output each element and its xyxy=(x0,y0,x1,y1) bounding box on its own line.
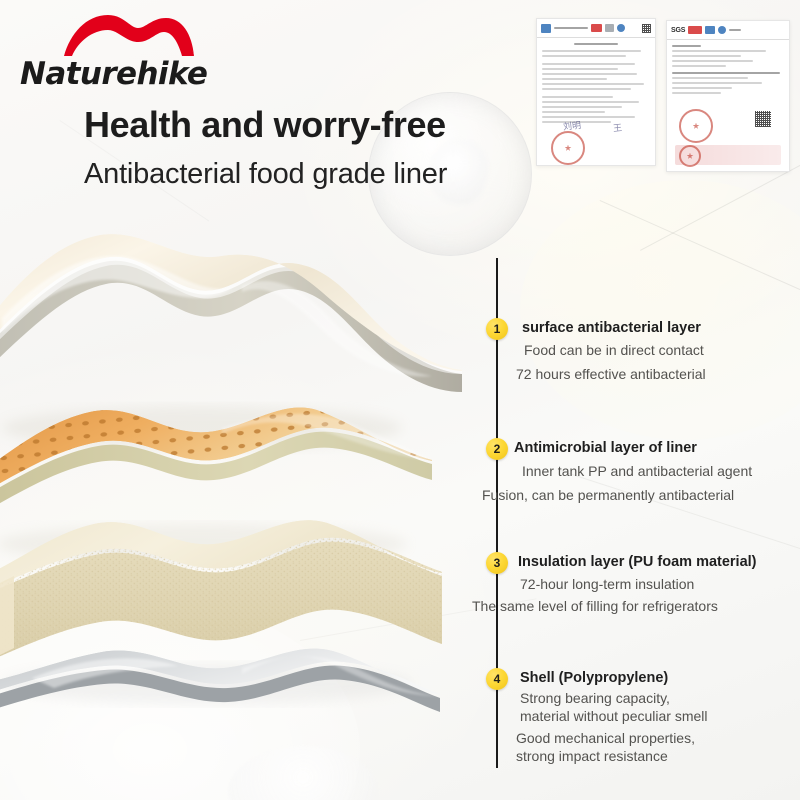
background-veil xyxy=(520,180,800,440)
certificate-header-text xyxy=(729,29,741,31)
certificate-body xyxy=(537,38,655,129)
background-marble-line xyxy=(560,470,800,557)
callout-title-4: Shell (Polypropylene) xyxy=(520,670,668,686)
ce-mark-icon xyxy=(605,24,614,32)
mountain-wave-icon xyxy=(60,12,200,60)
layer-polypropylene-shell xyxy=(0,649,440,716)
rohs-mark-icon xyxy=(705,26,715,34)
callout-desc-1-0: Food can be in direct contact xyxy=(524,342,704,358)
certificate-image-1: 刘明 王 xyxy=(536,18,656,166)
page-title: Health and worry-free xyxy=(84,104,446,146)
callout-desc-2-0: Inner tank PP and antibacterial agent xyxy=(522,463,752,479)
callout-title-1: surface antibacterial layer xyxy=(522,320,701,336)
brand-name: Naturehike xyxy=(20,56,207,92)
callout-desc-3-0: 72-hour long-term insulation xyxy=(520,576,694,592)
sgs-round-mark-icon xyxy=(718,26,726,34)
callout-desc-4-3: strong impact resistance xyxy=(516,748,668,764)
callout-title-3: Insulation layer (PU foam material) xyxy=(518,554,757,570)
qr-code-icon xyxy=(755,111,771,127)
brand-logo: Naturehike xyxy=(16,12,202,98)
callout-number-badge-1: 1 xyxy=(486,318,508,340)
callout-desc-4-0: Strong bearing capacity, xyxy=(520,690,670,706)
background-marble-line xyxy=(600,200,800,323)
product-infographic: Naturehike Health and worry-free Antibac… xyxy=(0,0,800,800)
layer-surface-antibacterial xyxy=(0,234,462,392)
qr-code-icon xyxy=(642,24,651,33)
official-stamp-icon xyxy=(679,145,701,167)
callout-desc-1-1: 72 hours effective antibacterial xyxy=(516,366,706,382)
cnas-mark-icon xyxy=(541,24,551,33)
certificate-header: SGS xyxy=(667,21,789,40)
fda-mark-icon xyxy=(688,26,702,34)
callout-desc-4-2: Good mechanical properties, xyxy=(516,730,695,746)
sgs-logo-text: SGS xyxy=(671,27,685,34)
cqc-mark-icon xyxy=(591,24,602,32)
callout-title-2: Antimicrobial layer of liner xyxy=(514,440,697,456)
certificate-image-2: SGS xyxy=(666,20,790,172)
callout-number-badge-2: 2 xyxy=(486,438,508,460)
certificate-header xyxy=(537,19,655,38)
page-subtitle: Antibacterial food grade liner xyxy=(84,158,447,191)
callout-desc-4-1: material without peculiar smell xyxy=(520,708,708,724)
callout-number-badge-3: 3 xyxy=(486,552,508,574)
callout-desc-2-1: Fusion, can be permanently antibacterial xyxy=(482,487,734,503)
layered-material-illustration xyxy=(0,232,492,792)
callout-desc-3-1: The same level of filling for refrigerat… xyxy=(472,598,718,614)
certificate-body xyxy=(667,40,789,100)
official-stamp-icon xyxy=(679,109,713,143)
signature-2: 王 xyxy=(612,121,622,135)
iso-mark-icon xyxy=(617,24,625,32)
certificate-header-text xyxy=(554,27,588,29)
callout-number-badge-4: 4 xyxy=(486,668,508,690)
official-stamp-icon xyxy=(551,131,585,165)
